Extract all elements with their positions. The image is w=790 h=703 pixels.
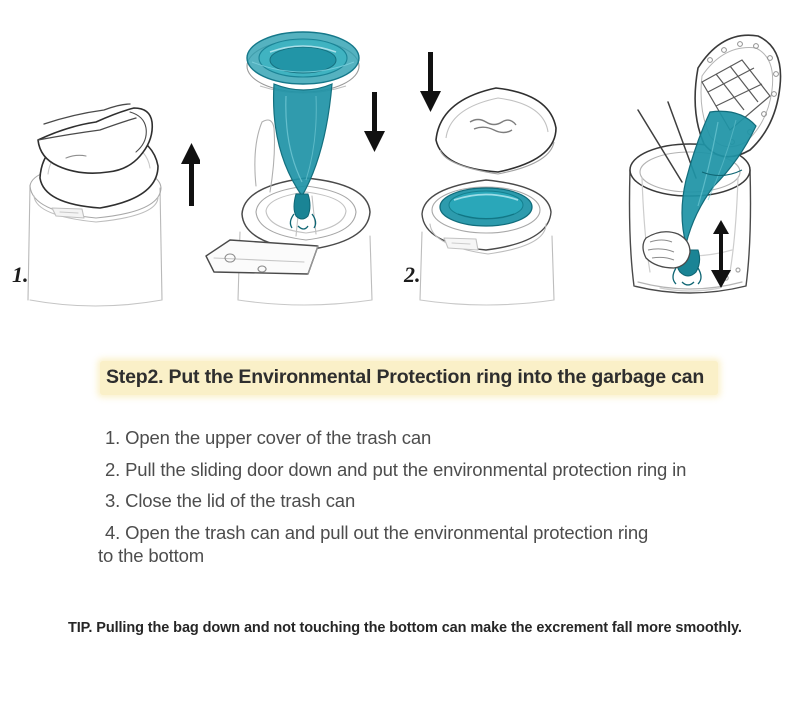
illustration-panel-4: 4. [590,0,790,330]
step-number-1: 1. [12,262,29,288]
arrow-down-icon [364,92,385,152]
illustration-panel-2: 2. [200,0,400,330]
arrow-up-icon [181,143,200,206]
panel-2-drawing [200,0,400,330]
illustration-panel-1: 1. [0,0,200,330]
tip-note: TIP. Pulling the bag down and not touchi… [68,620,742,636]
instruction-list: 1. Open the upper cover of the trash can… [105,422,765,548]
arrow-down-icon [420,52,441,112]
illustration-panel-3: 3. [400,0,590,330]
panel-4-drawing [590,0,790,330]
instruction-continuation: to the bottom [98,540,204,572]
list-item: 1. Open the upper cover of the trash can [105,422,765,454]
list-item: 3. Close the lid of the trash can [105,485,765,517]
step-heading-block: Step2. Put the Environmental Protection … [100,361,718,395]
environmental-protection-ring [247,32,359,93]
environmental-protection-ring [432,187,540,233]
page-title: Step2. Put the Environmental Protection … [106,366,704,389]
panel-3-drawing [400,0,590,330]
panel-1-drawing [0,0,200,330]
list-item: 2. Pull the sliding door down and put th… [105,454,765,486]
illustration-strip: 1. [0,0,790,330]
